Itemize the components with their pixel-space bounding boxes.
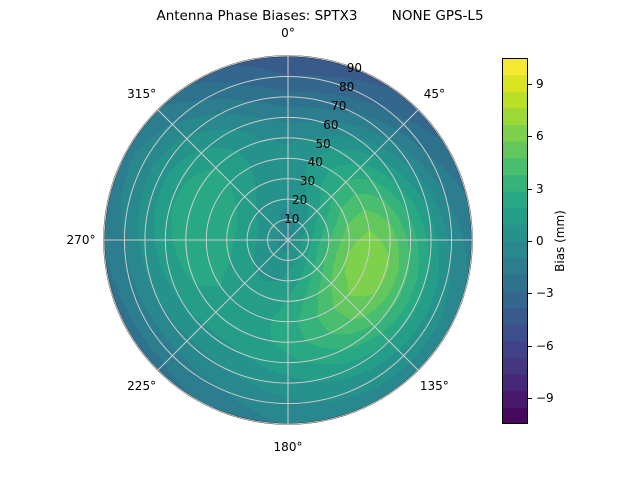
colorbar-tick-mark <box>528 346 532 347</box>
figure-canvas: Antenna Phase Biases: SPTX3 NONE GPS-L5 … <box>0 0 640 480</box>
colorbar-tick-mark <box>528 189 532 190</box>
angular-tick-label-225: 225° <box>127 379 156 393</box>
colorbar-tick-label-0: 0 <box>536 234 544 248</box>
colorbar-tick-mark <box>528 241 532 242</box>
colorbar-axis-label: Bias (mm) <box>553 210 567 272</box>
angular-tick-label-315: 315° <box>127 87 156 101</box>
polar-grid-overlay <box>103 55 473 425</box>
radial-tick-label-60: 60 <box>323 118 338 132</box>
colorbar-tick-mark <box>528 293 532 294</box>
colorbar-tick-mark <box>528 398 532 399</box>
angular-tick-label-270: 270° <box>67 233 96 247</box>
angular-tick-label-0: 0° <box>281 26 295 40</box>
chart-title: Antenna Phase Biases: SPTX3 NONE GPS-L5 <box>0 8 640 24</box>
colorbar-tick-label-3: 3 <box>536 182 544 196</box>
radial-tick-label-30: 30 <box>300 174 315 188</box>
colorbar-tick-label--3: −3 <box>536 286 554 300</box>
radial-tick-label-20: 20 <box>292 193 307 207</box>
colorbar-tick-label--6: −6 <box>536 339 554 353</box>
radial-tick-label-50: 50 <box>315 137 330 151</box>
colorbar-tick-label-6: 6 <box>536 129 544 143</box>
colorbar-tick-label--9: −9 <box>536 391 554 405</box>
radial-tick-label-70: 70 <box>331 99 346 113</box>
radial-tick-label-90: 90 <box>347 61 362 75</box>
angular-tick-label-180: 180° <box>274 440 303 454</box>
colorbar[interactable]: −9−6−30369 <box>502 58 528 424</box>
angular-tick-label-135: 135° <box>420 379 449 393</box>
colorbar-tick-mark <box>528 84 532 85</box>
angular-tick-label-45: 45° <box>424 87 445 101</box>
radial-tick-label-10: 10 <box>284 212 299 226</box>
radial-tick-label-40: 40 <box>308 155 323 169</box>
angular-tick-label-90: 90 <box>487 233 502 247</box>
colorbar-tick-label-9: 9 <box>536 77 544 91</box>
colorbar-tick-mark <box>528 136 532 137</box>
radial-tick-label-80: 80 <box>339 80 354 94</box>
polar-plot-area[interactable]: 0°45°90135°180°225°270°315° 102030405060… <box>103 55 473 425</box>
colorbar-gradient <box>502 58 528 424</box>
